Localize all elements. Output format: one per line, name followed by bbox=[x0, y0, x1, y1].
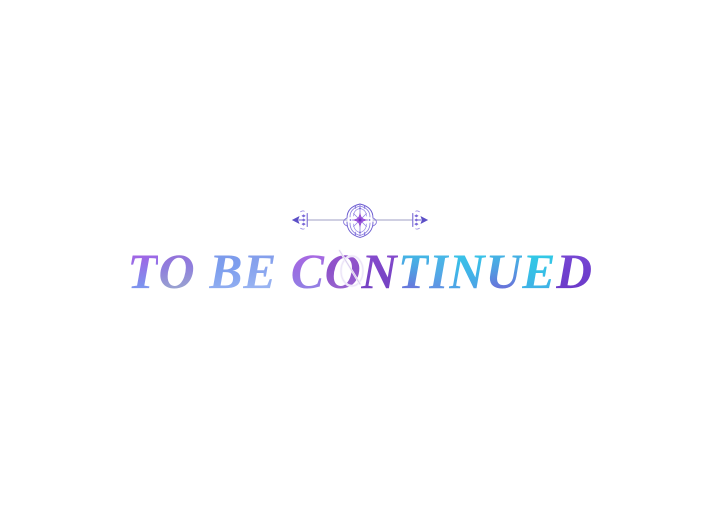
letter-glyph: O bbox=[325, 240, 362, 302]
letter-glyph: U bbox=[486, 240, 523, 302]
letter-glyph: I bbox=[429, 240, 449, 302]
letter-glyph: T bbox=[127, 240, 158, 302]
letter-glyph: T bbox=[398, 240, 429, 302]
letter-glyph: N bbox=[361, 240, 398, 302]
decorative-divider bbox=[290, 198, 430, 242]
filigree-rosette-divider-icon bbox=[290, 198, 430, 242]
page-title: TOBECONTINUED bbox=[0, 240, 720, 302]
letter-glyph: E bbox=[522, 240, 556, 302]
letter-glyph: C bbox=[291, 240, 325, 302]
to-be-continued-text: TOBECONTINUED bbox=[127, 240, 592, 302]
to-be-continued-card: TOBECONTINUED bbox=[0, 0, 720, 529]
letter-glyph: B bbox=[209, 240, 243, 302]
letter-glyph: N bbox=[449, 240, 486, 302]
letter-glyph: D bbox=[556, 240, 593, 302]
letter-glyph: O bbox=[158, 240, 195, 302]
letter-glyph: E bbox=[243, 240, 277, 302]
